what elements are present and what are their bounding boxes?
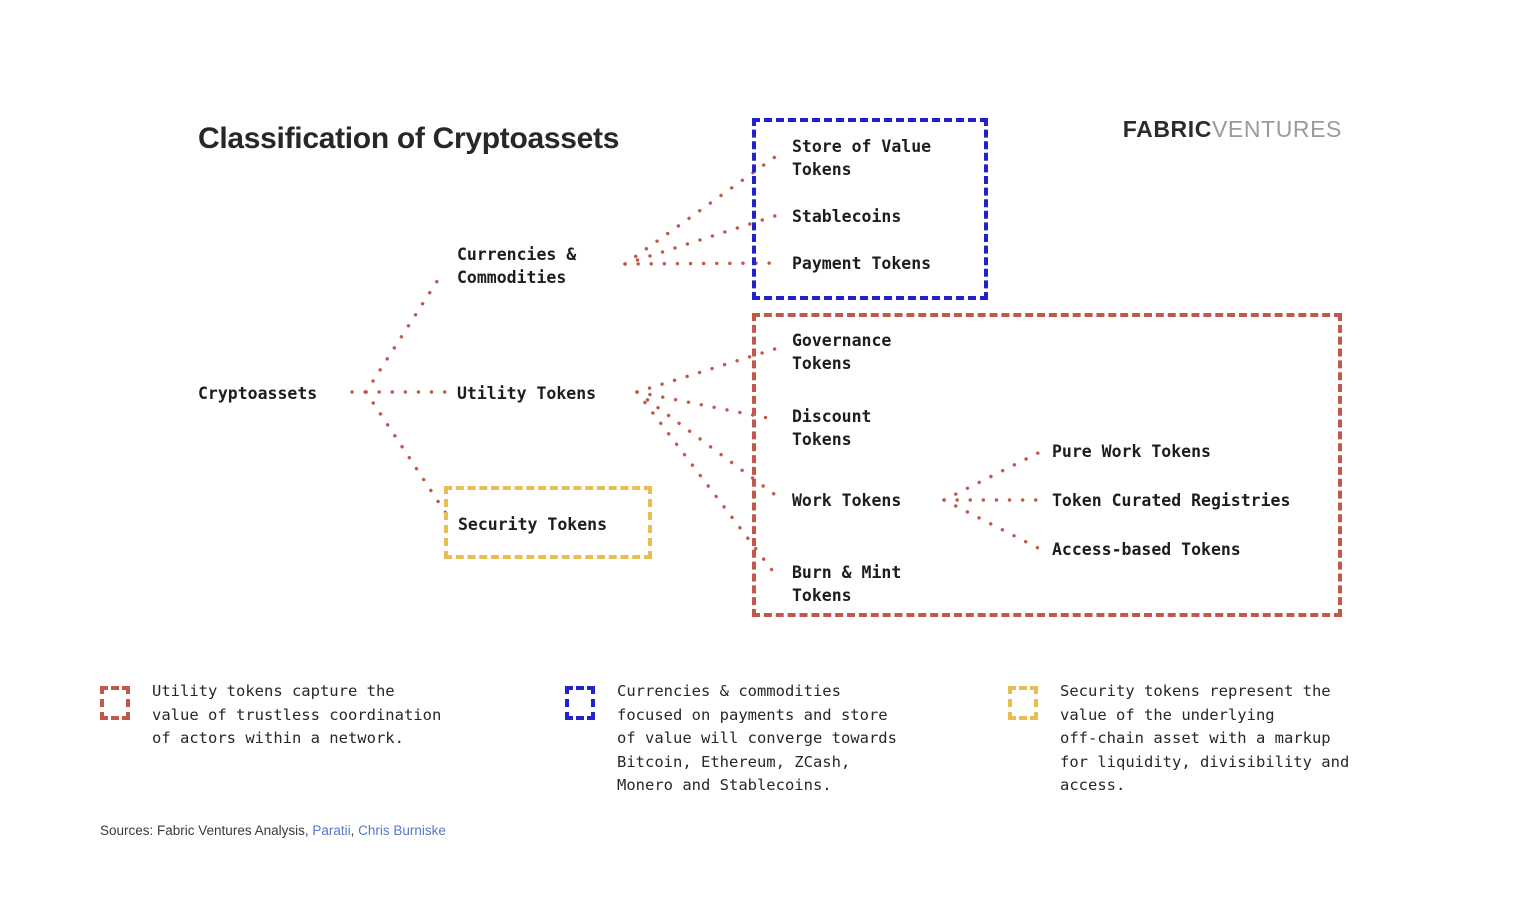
node-utility-tokens: Utility Tokens (457, 382, 596, 405)
node-pure-work-tokens: Pure Work Tokens (1052, 440, 1211, 463)
legend-item-utility: Utility tokens capture the value of trus… (100, 680, 530, 751)
sources-separator: , (351, 823, 359, 838)
source-link-chris-burniske[interactable]: Chris Burniske (358, 823, 446, 838)
legend-text-utility: Utility tokens capture the value of trus… (152, 680, 441, 751)
node-governance-tokens: Governance Tokens (792, 329, 891, 375)
legend-swatch-currencies (565, 686, 595, 720)
node-discount-tokens: Discount Tokens (792, 405, 871, 451)
legend-item-currencies: Currencies & commodities focused on paym… (565, 680, 975, 798)
node-currencies-commodities: Currencies & Commodities (457, 243, 576, 289)
page-title: Classification of Cryptoassets (198, 122, 619, 156)
legend-swatch-security (1008, 686, 1038, 720)
node-store-of-value-tokens: Store of Value Tokens (792, 135, 931, 181)
logo-secondary: VENTURES (1212, 116, 1342, 142)
legend-text-currencies: Currencies & commodities focused on paym… (617, 680, 897, 798)
logo-primary: FABRIC (1123, 116, 1212, 142)
node-work-tokens: Work Tokens (792, 489, 901, 512)
legend-swatch-utility (100, 686, 130, 720)
brand-logo: FABRICVENTURES (1123, 116, 1342, 143)
node-security-tokens: Security Tokens (458, 513, 607, 536)
node-burn-mint-tokens: Burn & Mint Tokens (792, 561, 901, 607)
sources-prefix: Sources: Fabric Ventures Analysis, (100, 823, 312, 838)
node-access-based-tokens: Access-based Tokens (1052, 538, 1241, 561)
node-stablecoins: Stablecoins (792, 205, 901, 228)
legend-item-security: Security tokens represent the value of t… (1008, 680, 1438, 798)
node-cryptoassets: Cryptoassets (198, 382, 317, 405)
node-token-curated-registries: Token Curated Registries (1052, 489, 1290, 512)
legend-text-security: Security tokens represent the value of t… (1060, 680, 1349, 798)
diagram-canvas: Classification of Cryptoassets FABRICVEN… (0, 0, 1528, 918)
sources-line: Sources: Fabric Ventures Analysis, Parat… (100, 823, 446, 838)
source-link-paratii[interactable]: Paratii (312, 823, 350, 838)
node-payment-tokens: Payment Tokens (792, 252, 931, 275)
